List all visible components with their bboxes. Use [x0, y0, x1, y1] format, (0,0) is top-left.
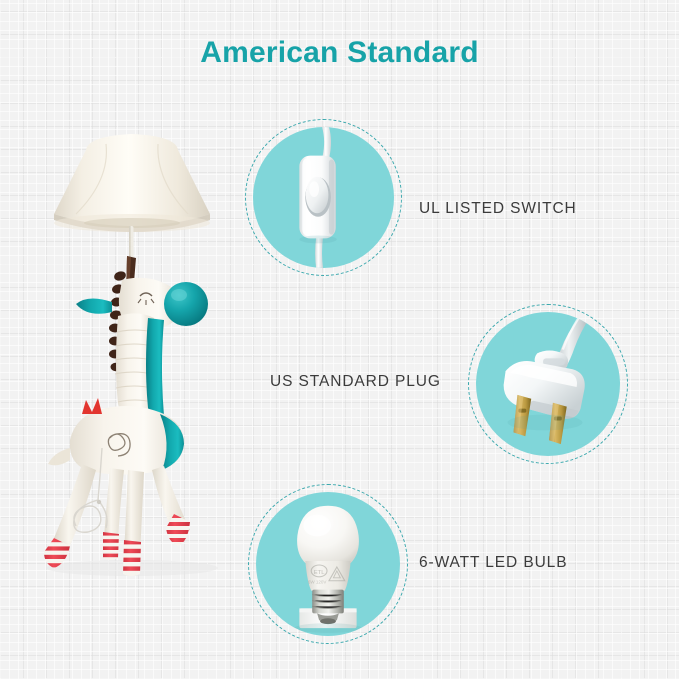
two-prong-us-plug-icon: [476, 312, 620, 456]
page-title: American Standard: [0, 36, 679, 70]
product-feature-infographic: American Standard: [0, 0, 679, 679]
giraffe-leg-front-left: [104, 468, 124, 540]
led-bulb-icon: ETL 6W 120V: [256, 492, 400, 636]
switch-cord-upper: [322, 127, 331, 157]
feature-circle-fill-bulb: ETL 6W 120V: [256, 492, 400, 636]
feature-circle-switch[interactable]: [245, 119, 402, 276]
bulb-neck: [305, 561, 350, 591]
giraffe-leg-rear-left: [54, 464, 96, 546]
feature-circle-fill-switch: [253, 127, 394, 268]
giraffe-snout: [164, 282, 208, 326]
feature-circle-plug[interactable]: [468, 304, 628, 464]
giraffe-neck-stripe: [146, 318, 164, 420]
giraffe-tail: [48, 448, 70, 465]
giraffe-lamp-illustration: [14, 128, 254, 580]
red-crest: [82, 398, 102, 414]
bulb-glass: [297, 506, 359, 563]
feature-label-switch: UL LISTED SWITCH: [419, 200, 577, 218]
inline-rocker-switch-icon: [253, 127, 394, 268]
svg-text:6W 120V: 6W 120V: [308, 580, 327, 585]
feature-circle-bulb[interactable]: ETL 6W 120V: [248, 484, 408, 644]
svg-text:ETL: ETL: [314, 570, 326, 576]
product-image-giraffe-lamp: [14, 128, 254, 580]
giraffe-ear: [76, 298, 112, 313]
feature-circle-fill-plug: [476, 312, 620, 456]
feature-label-bulb: 6-WATT LED BULB: [419, 554, 567, 572]
feature-label-plug: US STANDARD PLUG: [270, 373, 441, 391]
